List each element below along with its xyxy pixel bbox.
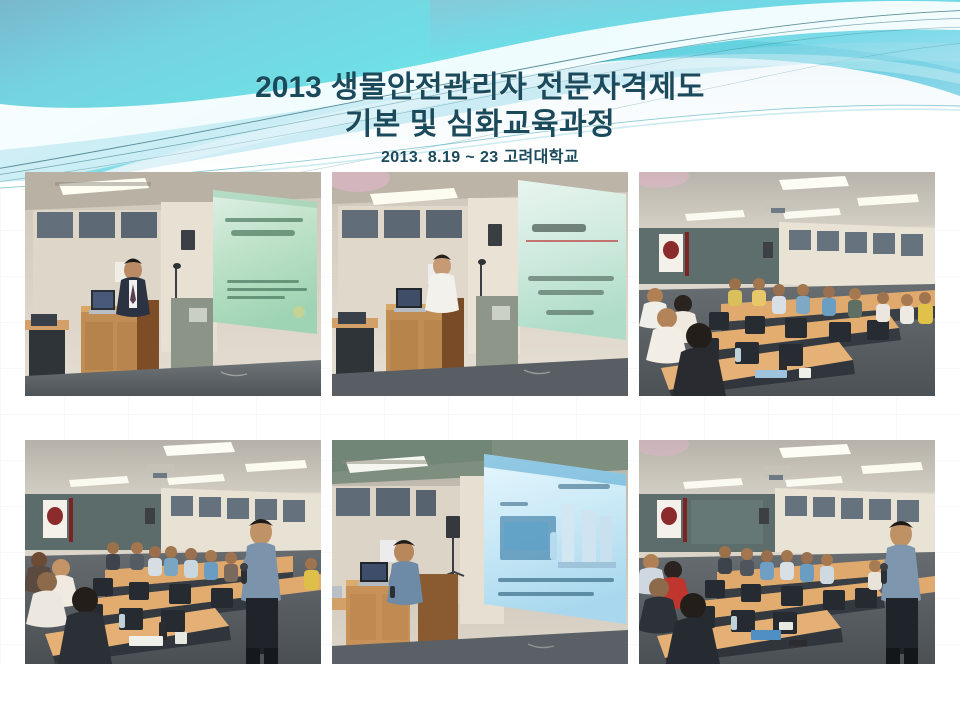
photo-thumbnail[interactable] xyxy=(639,440,935,664)
photo-thumbnail[interactable] xyxy=(332,172,628,396)
title-line-1-text: 생물안전관리자 전문자격제도 xyxy=(322,71,705,104)
title-line-2: 기본 및 심화교육과정 xyxy=(0,107,960,143)
title-line-1: 2013 생물안전관리자 전문자격제도 xyxy=(0,70,960,106)
presentation-slide: 2013 생물안전관리자 전문자격제도 기본 및 심화교육과정 2013. 8.… xyxy=(0,0,960,720)
slide-footer-area xyxy=(0,664,960,720)
title-subtitle: 2013. 8.19 ~ 23 고려대학교 xyxy=(0,148,960,167)
title-year: 2013 xyxy=(255,71,322,104)
photo-thumbnail[interactable] xyxy=(332,440,628,664)
photo-thumbnail[interactable] xyxy=(25,440,321,664)
photo-thumbnail[interactable] xyxy=(25,172,321,396)
photo-grid xyxy=(25,172,935,664)
slide-title-block: 2013 생물안전관리자 전문자격제도 기본 및 심화교육과정 2013. 8.… xyxy=(0,70,960,167)
photo-thumbnail[interactable] xyxy=(639,172,935,396)
